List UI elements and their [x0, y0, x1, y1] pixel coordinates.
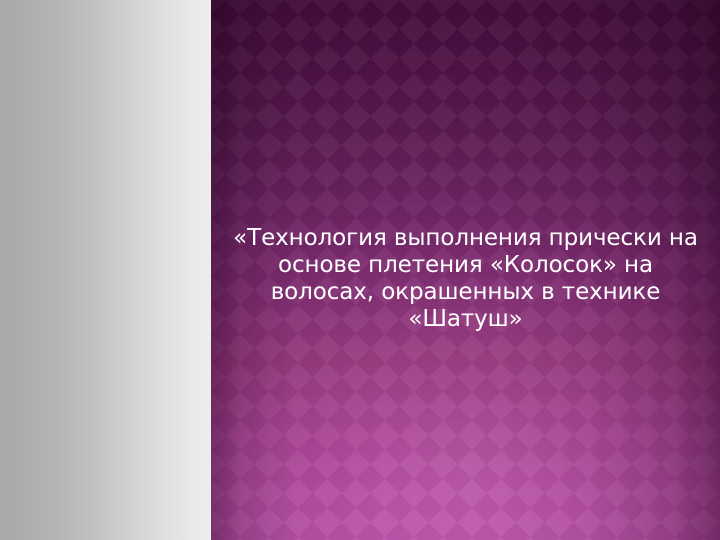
slide-title: «Технология выполнения прически на основ… [229, 225, 703, 333]
title-placeholder: «Технология выполнения прически на основ… [211, 0, 720, 540]
slide-canvas: «Технология выполнения прически на основ… [0, 0, 720, 540]
left-gray-gradient-panel [0, 0, 211, 540]
